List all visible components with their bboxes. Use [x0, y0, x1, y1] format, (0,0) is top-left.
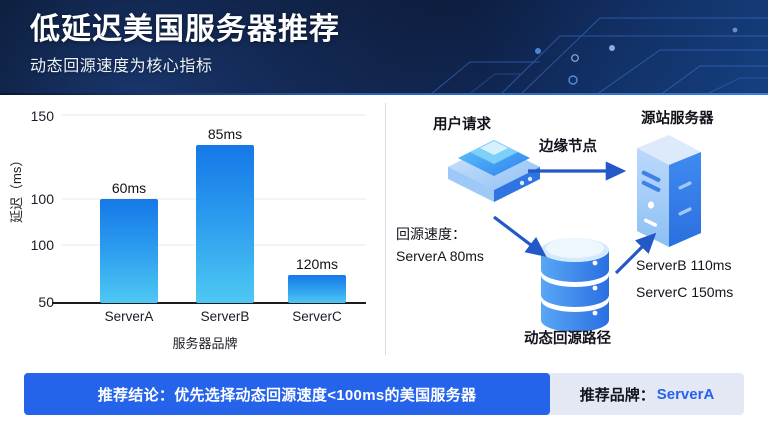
- y-tick-2: 100: [14, 237, 54, 253]
- y-tick-3: 50: [14, 294, 54, 310]
- user-request-icon: [448, 140, 540, 202]
- conclusion-text: 推荐结论：优先选择动态回源速度<100ms的美国服务器: [98, 384, 477, 405]
- footer-bar: 推荐结论：优先选择动态回源速度<100ms的美国服务器 推荐品牌： Server…: [0, 363, 768, 432]
- x-tick-servera: ServerA: [84, 309, 174, 324]
- bar-label-servera: 60ms: [84, 180, 174, 196]
- database-icon: [541, 238, 609, 332]
- text-speed-serverb: ServerB 110ms: [636, 257, 731, 273]
- bar-label-serverc: 120ms: [272, 256, 362, 272]
- text-speed-serverc: ServerC 150ms: [636, 284, 733, 300]
- bar-servera: [100, 199, 158, 303]
- slide-root: 低延迟美国服务器推荐 动态回源速度为核心指标: [0, 0, 768, 432]
- recommended-brand-value: ServerA: [657, 386, 715, 403]
- title-block: 低延迟美国服务器推荐 动态回源速度为核心指标: [30, 13, 340, 76]
- label-user-request: 用户请求: [433, 113, 491, 134]
- origin-server-icon: [637, 135, 701, 247]
- arrow-to-database: [494, 217, 544, 255]
- recommended-brand-label: 推荐品牌：: [580, 384, 655, 405]
- latency-bar-chart: 延迟（ms） 150 100 100 50 60ms 85ms 120ms Se…: [0, 95, 385, 363]
- chart-x-axis-title: 服务器品牌: [90, 333, 320, 352]
- x-tick-serverb: ServerB: [180, 309, 270, 324]
- bar-serverc: [288, 275, 346, 303]
- text-speed-title: 回源速度：: [396, 224, 466, 244]
- label-edge-node: 边缘节点: [539, 135, 597, 156]
- y-tick-0: 150: [14, 108, 54, 124]
- origin-flow-diagram: 用户请求 边缘节点 源站服务器 动态回源路径 回源速度： ServerA 80m…: [386, 95, 768, 363]
- header-banner: 低延迟美国服务器推荐 动态回源速度为核心指标: [0, 0, 768, 95]
- label-origin-server: 源站服务器: [641, 107, 714, 128]
- recommended-brand-block: 推荐品牌： ServerA: [550, 373, 744, 415]
- bar-serverb: [196, 145, 254, 303]
- conclusion-banner: 推荐结论：优先选择动态回源速度<100ms的美国服务器: [24, 373, 550, 415]
- content-panels: 延迟（ms） 150 100 100 50 60ms 85ms 120ms Se…: [0, 95, 768, 363]
- text-speed-servera: ServerA 80ms: [396, 248, 484, 264]
- bar-label-serverb: 85ms: [180, 126, 270, 142]
- page-subtitle: 动态回源速度为核心指标: [30, 52, 340, 76]
- y-tick-1: 100: [14, 191, 54, 207]
- page-title: 低延迟美国服务器推荐: [30, 13, 340, 47]
- header-bottom-rule: [0, 93, 768, 95]
- label-origin-path: 动态回源路径: [524, 327, 611, 348]
- x-tick-serverc: ServerC: [272, 309, 362, 324]
